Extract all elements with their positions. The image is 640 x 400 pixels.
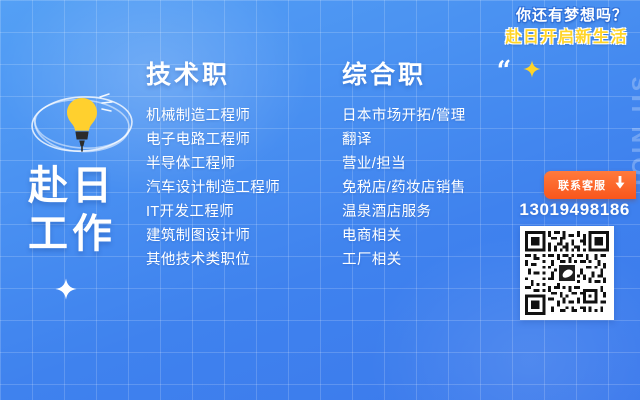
list-item: 汽车设计制造工程师 xyxy=(146,176,280,200)
column-general-title: 综合职 xyxy=(342,60,466,90)
list-item: IT开发工程师 xyxy=(146,200,280,224)
brand-title-line-2: 工作 xyxy=(28,210,116,258)
bulb-glyph xyxy=(67,98,97,151)
contact-support-button-label: 联系客服 xyxy=(558,177,606,193)
brand-title-line-1: 赴日 xyxy=(28,162,116,210)
list-item: 免税店/药妆店销售 xyxy=(342,176,466,200)
lightbulb-illustration xyxy=(22,84,142,162)
quote-mark-icon: “ xyxy=(496,57,514,84)
contact-support-button[interactable]: 联系客服 xyxy=(544,171,636,199)
brand-title: 赴日 工作 xyxy=(28,162,116,258)
headline-block: 你还有梦想吗？ 赴日开启新生活 xyxy=(505,6,628,48)
list-item: 营业/担当 xyxy=(342,152,466,176)
contact-phone-number: 13019498186 xyxy=(519,200,630,220)
sparkle-star-white-icon xyxy=(55,278,77,300)
list-item: 翻译 xyxy=(342,128,466,152)
list-item: 日本市场开拓/管理 xyxy=(342,104,466,128)
list-item: 建筑制图设计师 xyxy=(146,224,280,248)
list-item: 其他技术类职位 xyxy=(146,248,280,272)
qr-code-center-logo xyxy=(557,263,577,283)
column-technical-list: 机械制造工程师 电子电路工程师 半导体工程师 汽车设计制造工程师 IT开发工程师… xyxy=(146,104,280,272)
column-technical-title: 技术职 xyxy=(146,60,280,90)
headline-line-1: 你还有梦想吗？ xyxy=(505,6,628,25)
qr-code[interactable] xyxy=(520,226,614,320)
list-item: 半导体工程师 xyxy=(146,152,280,176)
arrow-down-icon xyxy=(614,176,626,194)
column-general: 综合职 日本市场开拓/管理 翻译 营业/担当 免税店/药妆店销售 温泉酒店服务 … xyxy=(342,60,466,272)
column-technical: 技术职 机械制造工程师 电子电路工程师 半导体工程师 汽车设计制造工程师 IT开… xyxy=(146,60,280,272)
list-item: 温泉酒店服务 xyxy=(342,200,466,224)
list-item: 电子电路工程师 xyxy=(146,128,280,152)
list-item: 电商相关 xyxy=(342,224,466,248)
sparkle-star-yellow-icon xyxy=(523,60,541,78)
headline-line-2: 赴日开启新生活 xyxy=(505,28,628,48)
poster-canvas: JOIN US 你还有梦想吗？ 赴日开启新生活 “ xyxy=(0,0,640,400)
list-item: 工厂相关 xyxy=(342,248,466,272)
list-item: 机械制造工程师 xyxy=(146,104,280,128)
column-general-list: 日本市场开拓/管理 翻译 营业/担当 免税店/药妆店销售 温泉酒店服务 电商相关… xyxy=(342,104,466,272)
